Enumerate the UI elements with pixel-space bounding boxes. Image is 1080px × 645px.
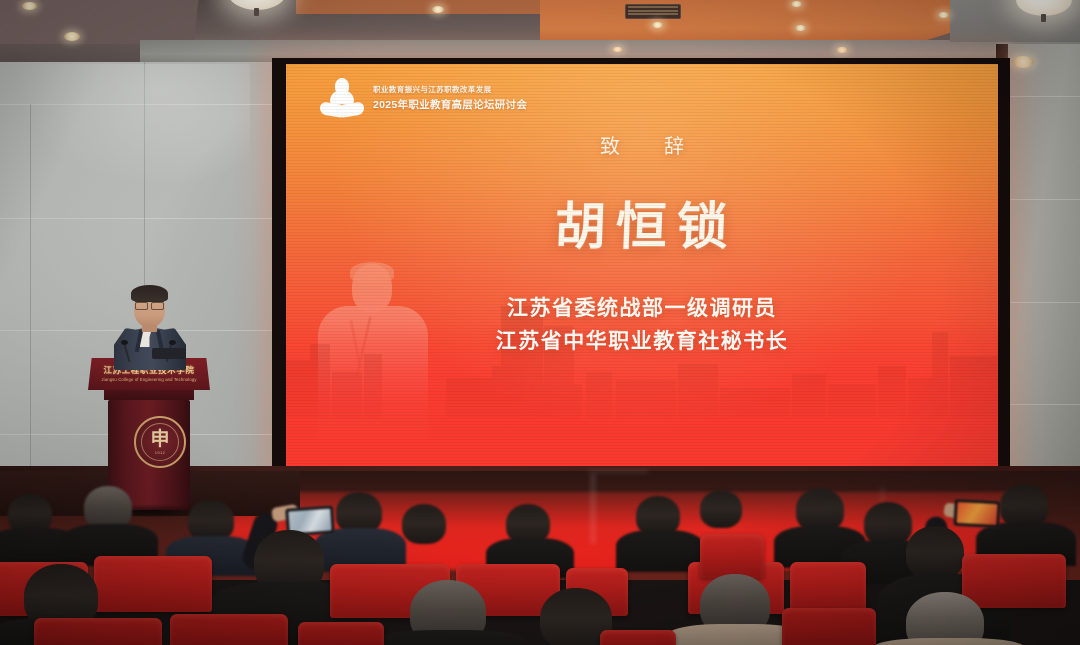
auditorium-seat (782, 608, 876, 645)
logo-book-right-page (342, 101, 364, 117)
logo-figure-body (330, 90, 354, 104)
skyline-building (446, 378, 492, 418)
podium-laptop (152, 348, 186, 359)
auditorium-seat (34, 618, 162, 645)
auditorium-seat (94, 556, 212, 612)
wall-seam-vertical (30, 104, 31, 482)
auditorium-seat (790, 562, 866, 612)
skyline-building (792, 374, 826, 418)
dome-light-stem (1041, 14, 1046, 22)
skyline-building (364, 354, 382, 418)
forum-title: 2025年职业教育高层论坛研讨会 (373, 97, 527, 112)
microphone-head (169, 340, 176, 345)
audience-head (402, 504, 446, 544)
recessed-downlight (612, 47, 623, 52)
slide-kicker: 致 辞 (588, 130, 696, 159)
wall-light-glint (1012, 56, 1034, 68)
skyline-building (828, 384, 876, 418)
auditorium-seat (700, 534, 764, 578)
recessed-downlight (938, 12, 949, 18)
eyeglasses-icon (135, 301, 164, 308)
skyline-building (678, 364, 718, 418)
microphone-head (121, 340, 128, 345)
photographer-head (906, 526, 964, 580)
skyline-building (286, 360, 312, 418)
emblem-founding-year: 1912 (155, 450, 166, 455)
wall-seam (1008, 96, 1080, 97)
forum-logo-text: 职业教育振兴与江苏职教改革发展 2025年职业教育高层论坛研讨会 (373, 84, 527, 112)
skyline-building (586, 372, 612, 418)
skyline-building (950, 356, 998, 418)
auditorium-seat (600, 630, 676, 645)
skyline-building (492, 366, 526, 418)
recessed-downlight (795, 25, 806, 31)
podium-neck (104, 390, 194, 400)
conference-hall-scene: 职业教育振兴与江苏职教改革发展 2025年职业教育高层论坛研讨会 致 辞 胡恒锁… (0, 0, 1080, 645)
speaker-role: 江苏省委统战部一级调研员 江苏省中华职业教育社秘书长 (496, 293, 789, 358)
wall-seam (0, 104, 292, 105)
skyline-building (616, 380, 676, 418)
skyline-building (530, 384, 582, 418)
logo-book-left-page (320, 101, 342, 117)
wall-seam (0, 218, 292, 219)
emblem-character: 申 (150, 430, 169, 449)
person-on-open-book-icon (320, 76, 364, 120)
auditorium-seat (170, 614, 288, 645)
smartphone-camera (953, 499, 1000, 528)
speaker-role-line-2: 江苏省中华职业教育社秘书长 (496, 326, 789, 359)
skyline-building (878, 366, 906, 418)
auditorium-seat (962, 554, 1066, 608)
recessed-downlight (836, 47, 848, 53)
podium-institution-name-en: Jiangsu College of Engineering and Techn… (101, 377, 196, 382)
audience-head (700, 490, 742, 528)
slide-text-block: 致 辞 胡恒锁 江苏省委统战部一级调研员 江苏省中华职业教育社秘书长 (286, 130, 998, 358)
forum-subtitle: 职业教育振兴与江苏职教改革发展 (373, 84, 527, 95)
audience-area (0, 478, 1080, 645)
ceiling-panel-orange-left (296, 0, 546, 14)
skyline-building (908, 378, 948, 418)
dome-light-stem (254, 8, 259, 16)
wall-seam (1008, 302, 1080, 303)
wall-seam (1008, 404, 1080, 405)
recessed-downlight (652, 22, 663, 28)
recessed-downlight (64, 32, 80, 41)
wall-right (1008, 44, 1080, 504)
floor-light-streak (588, 470, 648, 473)
speaker-role-line-1: 江苏省委统战部一级调研员 (496, 293, 789, 326)
audience-shoulders-front (874, 638, 1024, 645)
recessed-downlight (432, 6, 444, 13)
emblem-inner-ring: 申 1912 (141, 423, 179, 461)
air-conditioning-vent-icon (625, 4, 681, 19)
wall-seam (1008, 199, 1080, 200)
skyline-building (332, 372, 362, 418)
auditorium-seat (298, 622, 384, 645)
recessed-downlight (22, 2, 37, 10)
college-emblem-icon: 申 1912 (134, 416, 186, 468)
phone-screen (956, 502, 997, 525)
led-screen: 职业教育振兴与江苏职教改革发展 2025年职业教育高层论坛研讨会 致 辞 胡恒锁… (286, 64, 998, 470)
skyline-building (720, 388, 790, 418)
speaker-name: 胡恒锁 (544, 185, 740, 259)
speaker-hair (131, 285, 168, 302)
audience-shoulders-front (378, 630, 526, 645)
forum-logo-lockup: 职业教育振兴与江苏职教改革发展 2025年职业教育高层论坛研讨会 (320, 74, 550, 122)
recessed-downlight (791, 1, 802, 7)
